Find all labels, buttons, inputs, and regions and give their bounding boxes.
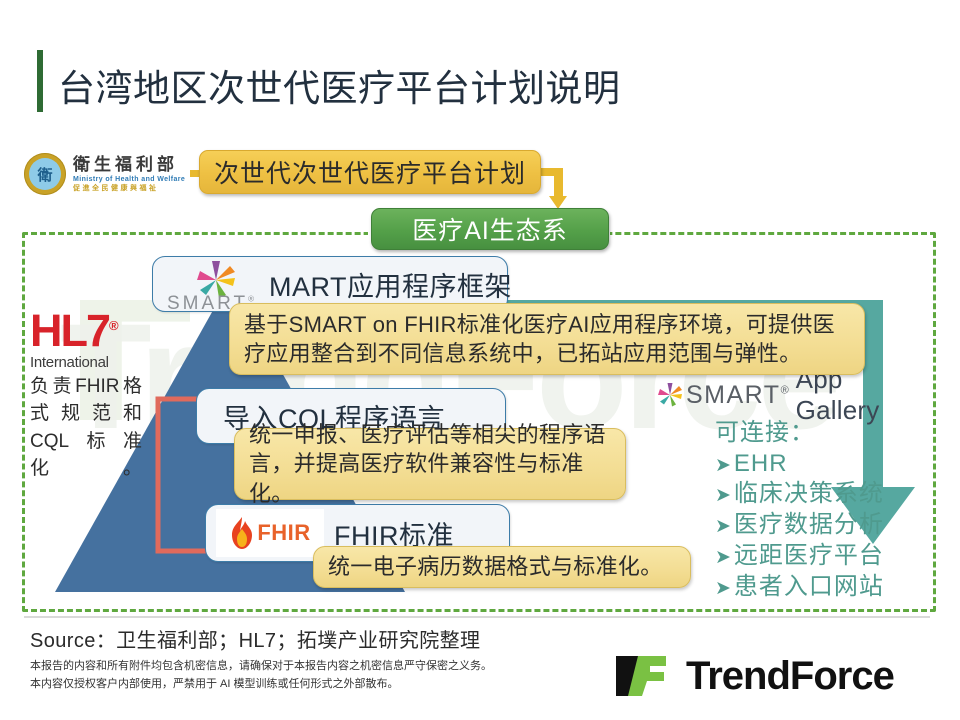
ministry-logo: 衛 衛生福利部 Ministry of Health and Welfare 促… — [24, 148, 204, 200]
list-item: ➤医疗数据分析 — [715, 510, 925, 541]
bullet-arrow-icon: ➤ — [715, 515, 732, 539]
footer-divider — [24, 616, 930, 618]
ministry-name-en: Ministry of Health and Welfare — [73, 176, 185, 183]
page-title: 台湾地区次世代医疗平台计划说明 — [58, 58, 621, 112]
list-item-label: 医疗数据分析 — [734, 510, 884, 541]
hl7-block: HL7® International 负责FHIR格式规范和CQL标准化。 — [30, 310, 148, 483]
list-item: ➤远距医疗平台 — [715, 541, 925, 572]
gallery-logo-word: SMART® — [686, 381, 789, 410]
disclaimer-line-2: 本内容仅授权客户内部使用，严禁用于 AI 模型训练或任何形式之外部散布。 — [30, 676, 492, 694]
ecosystem-pill: 医疗AI生态系 — [371, 208, 609, 250]
program-pill-label: 次世代次世代医疗平台计划 — [214, 154, 526, 190]
slide-canvas: TrendForce 台湾地区次世代医疗平台计划说明 衛 衛生福利部 Minis… — [0, 0, 960, 720]
disclaimer-line-1: 本报告的内容和所有附件均包含机密信息，请确保对于本报告内容之机密信息严守保密之义… — [30, 658, 492, 676]
callout-smart: 基于SMART on FHIR标准化医疗AI应用程序环境，可提供医疗应用整合到不… — [229, 303, 865, 375]
bullet-arrow-icon: ➤ — [715, 577, 732, 601]
list-item: ➤EHR — [715, 449, 925, 480]
trendforce-mark-icon — [614, 652, 676, 700]
list-item-label: EHR — [734, 449, 788, 480]
hl7-registered-mark: ® — [109, 318, 117, 333]
gallery-connect-list: 可连接： ➤EHR ➤临床决策系统 ➤医疗数据分析 ➤远距医疗平台 ➤患者入口网… — [715, 418, 925, 602]
app-gallery-header: SMART® App Gallery — [655, 378, 925, 412]
disclaimer: 本报告的内容和所有附件均包含机密信息，请确保对于本报告内容之机密信息严守保密之义… — [30, 658, 492, 693]
trendforce-wordmark: TrendForce — [686, 654, 894, 699]
source-line: Source：卫生福利部；HL7；拓墣产业研究院整理 — [30, 624, 480, 653]
program-pill: 次世代次世代医疗平台计划 — [199, 150, 541, 194]
fhir-flame-icon — [229, 516, 255, 550]
ministry-name-cn: 衛生福利部 — [73, 156, 185, 173]
yellow-arrow-shaft — [554, 168, 563, 198]
title-accent-bar — [37, 50, 43, 112]
callout-fhir: 统一电子病历数据格式与标准化。 — [313, 546, 691, 588]
ecosystem-pill-label: 医疗AI生态系 — [412, 211, 568, 247]
list-item-label: 患者入口网站 — [734, 572, 884, 603]
ministry-seal-glyph: 衛 — [24, 153, 66, 195]
hl7-logo: HL7® — [30, 310, 148, 353]
bullet-arrow-icon: ➤ — [715, 454, 732, 478]
ministry-seal-icon: 衛 — [24, 153, 66, 195]
list-item: ➤临床决策系统 — [715, 479, 925, 510]
hl7-description: 负责FHIR格式规范和CQL标准化。 — [30, 373, 142, 483]
app-gallery-block: SMART® App Gallery 可连接： ➤EHR ➤临床决策系统 ➤医疗… — [655, 378, 925, 602]
bullet-arrow-icon: ➤ — [715, 484, 732, 508]
hl7-logo-text: HL7 — [30, 305, 109, 356]
fhir-logo-word: FHIR — [257, 520, 310, 546]
fhir-logo: FHIR — [216, 509, 324, 557]
list-item: ➤患者入口网站 — [715, 572, 925, 603]
hl7-subtitle: International — [30, 354, 148, 371]
smart-pinwheel-icon — [655, 380, 685, 410]
list-item-label: 临床决策系统 — [734, 479, 884, 510]
ministry-slogan: 促進全民健康與福祉 — [73, 185, 185, 192]
callout-cql: 统一申报、医疗评估等相尖的程序语言，并提高医疗软件兼容性与标准化。 — [234, 428, 626, 500]
gallery-registered-mark: ® — [781, 384, 789, 396]
bullet-arrow-icon: ➤ — [715, 546, 732, 570]
trendforce-logo: TrendForce — [614, 648, 934, 704]
layer-title-smart: MART应用程序框架 — [269, 265, 512, 304]
callout-cql-text: 统一申报、医疗评估等相尖的程序语言，并提高医疗软件兼容性与标准化。 — [249, 420, 611, 507]
list-item-label: 远距医疗平台 — [734, 541, 884, 572]
callout-smart-text: 基于SMART on FHIR标准化医疗AI应用程序环境，可提供医疗应用整合到不… — [244, 310, 850, 368]
callout-fhir-text: 统一电子病历数据格式与标准化。 — [328, 552, 663, 581]
